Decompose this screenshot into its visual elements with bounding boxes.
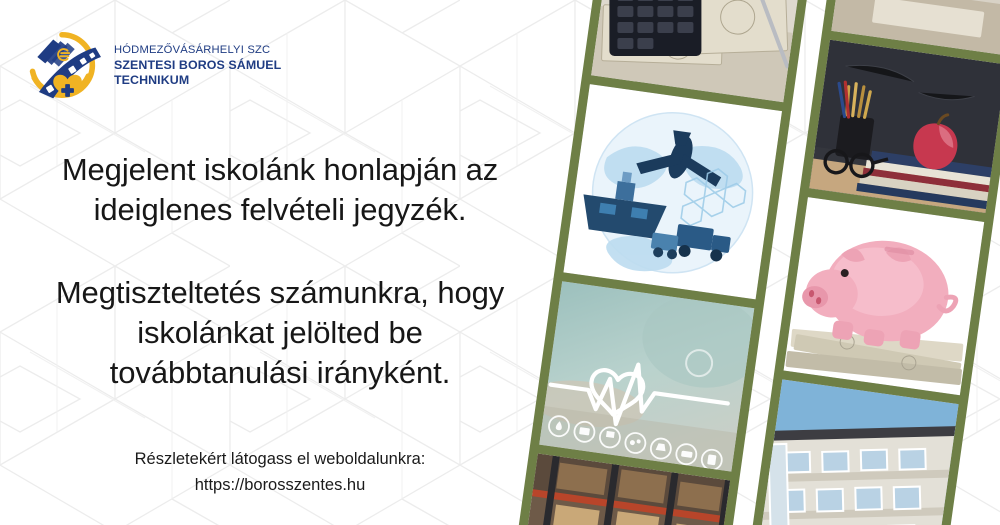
logo-line-2: SZENTESI BOROS SÁMUEL [114,58,281,73]
photo-school-building [756,379,959,525]
logo-line-1: HÓDMEZŐVÁSÁRHELYI SZC [114,44,281,58]
poster-canvas: HÓDMEZŐVÁSÁRHELYI SZC SZENTESI BOROS SÁM… [0,0,1000,525]
paragraph-2-line-2: iskolánkat jelölted be [20,313,540,353]
paragraph-2-line-1: Megtiszteltetés számunkra, hogy [20,273,540,313]
logo-wordmark: HÓDMEZŐVÁSÁRHELYI SZC SZENTESI BOROS SÁM… [114,42,281,88]
footer-block: Részletekért látogass el weboldalunkra: … [20,447,540,498]
euro-banknotes-road-heart-cross-circle-logo-icon [18,30,106,100]
announcement-paragraph-2: Megtiszteltetés számunkra, hogy iskolánk… [20,273,540,394]
school-logo: HÓDMEZŐVÁSÁRHELYI SZC SZENTESI BOROS SÁM… [18,30,281,100]
paragraph-1-line-2: ideiglenes felvételi jegyzék. [20,190,540,230]
photo-piggy-bank-on-banknotes [784,197,985,395]
logo-line-3: TECHNIKUM [114,73,281,88]
paragraph-2-line-3: továbbtanulási irányként. [20,353,540,393]
photo-logistics-globe-airplane-ship-truck [563,84,782,299]
footer-call-to-action: Részletekért látogass el weboldalunkra: [20,447,540,473]
announcement-paragraph-1: Megjelent iskolánk honlapján az ideiglen… [20,150,540,231]
paragraph-spacer [20,231,540,273]
photo-healthcare-heartbeat [539,281,754,471]
photo-finance-calculator-money [591,0,803,102]
paragraph-1-line-1: Megjelent iskolánk honlapján az [20,150,540,190]
announcement-text: Megjelent iskolánk honlapján az ideiglen… [20,150,540,393]
photo-school-chalkboard-books-apple [809,40,1000,213]
website-url[interactable]: https://borosszentes.hu [20,473,540,499]
